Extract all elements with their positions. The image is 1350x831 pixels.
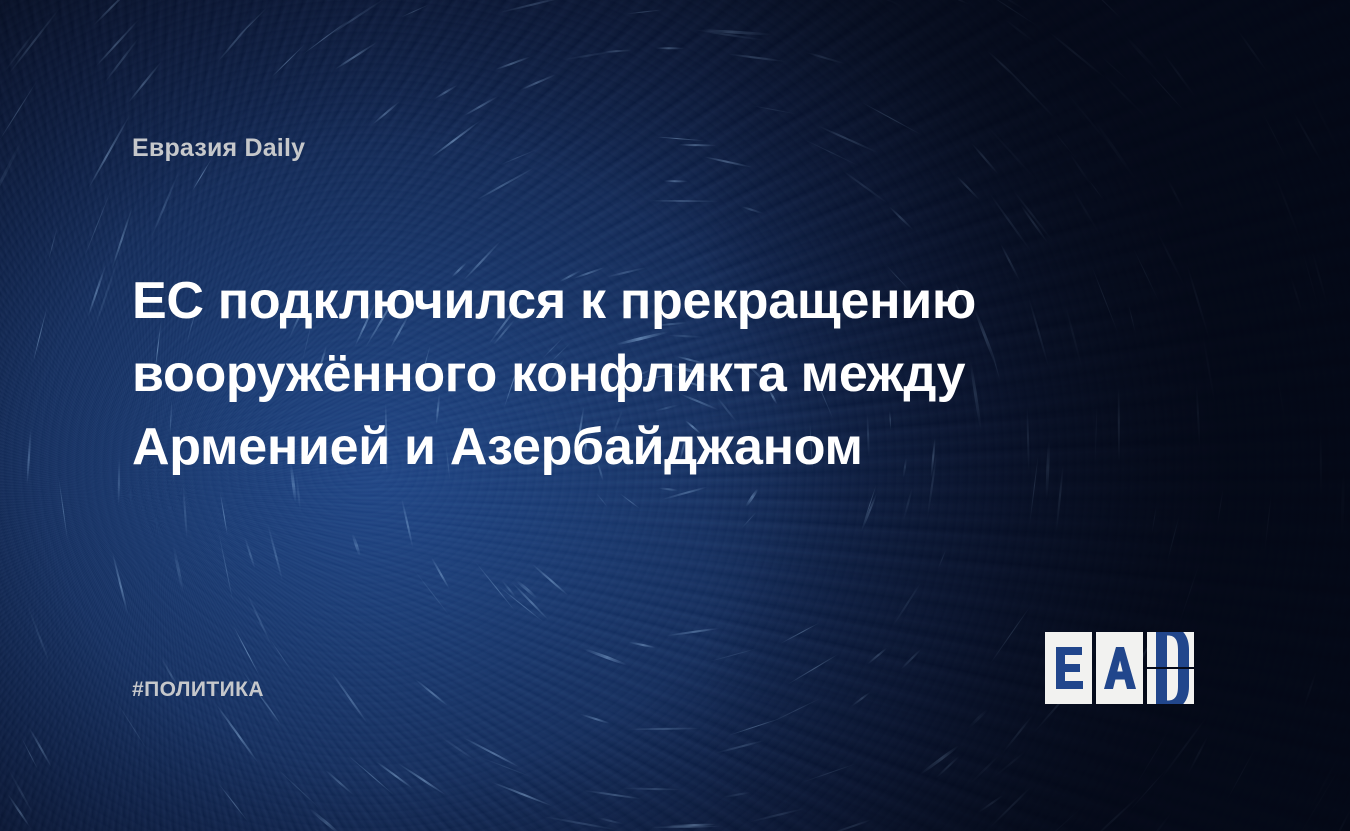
logo-tile-d-bottom [1147,669,1194,704]
eadaily-logo[interactable] [1045,632,1194,704]
logo-tile-d [1147,632,1194,704]
headline-line-1: ЕС подключился к прекращению [132,265,1092,338]
logo-tile-e [1045,632,1092,704]
logo-tile-d-top [1147,632,1194,667]
headline-line-3: Арменией и Азербайджаном [132,411,1092,484]
news-card: Евразия Daily ЕС подключился к прекращен… [0,0,1350,831]
logo-tile-a [1096,632,1143,704]
category-tag[interactable]: #ПОЛИТИКА [132,678,264,702]
page-title: ЕС подключился к прекращению вооружённог… [132,265,1092,484]
headline-line-2: вооружённого конфликта между [132,338,1092,411]
site-name: Евразия Daily [132,134,305,163]
